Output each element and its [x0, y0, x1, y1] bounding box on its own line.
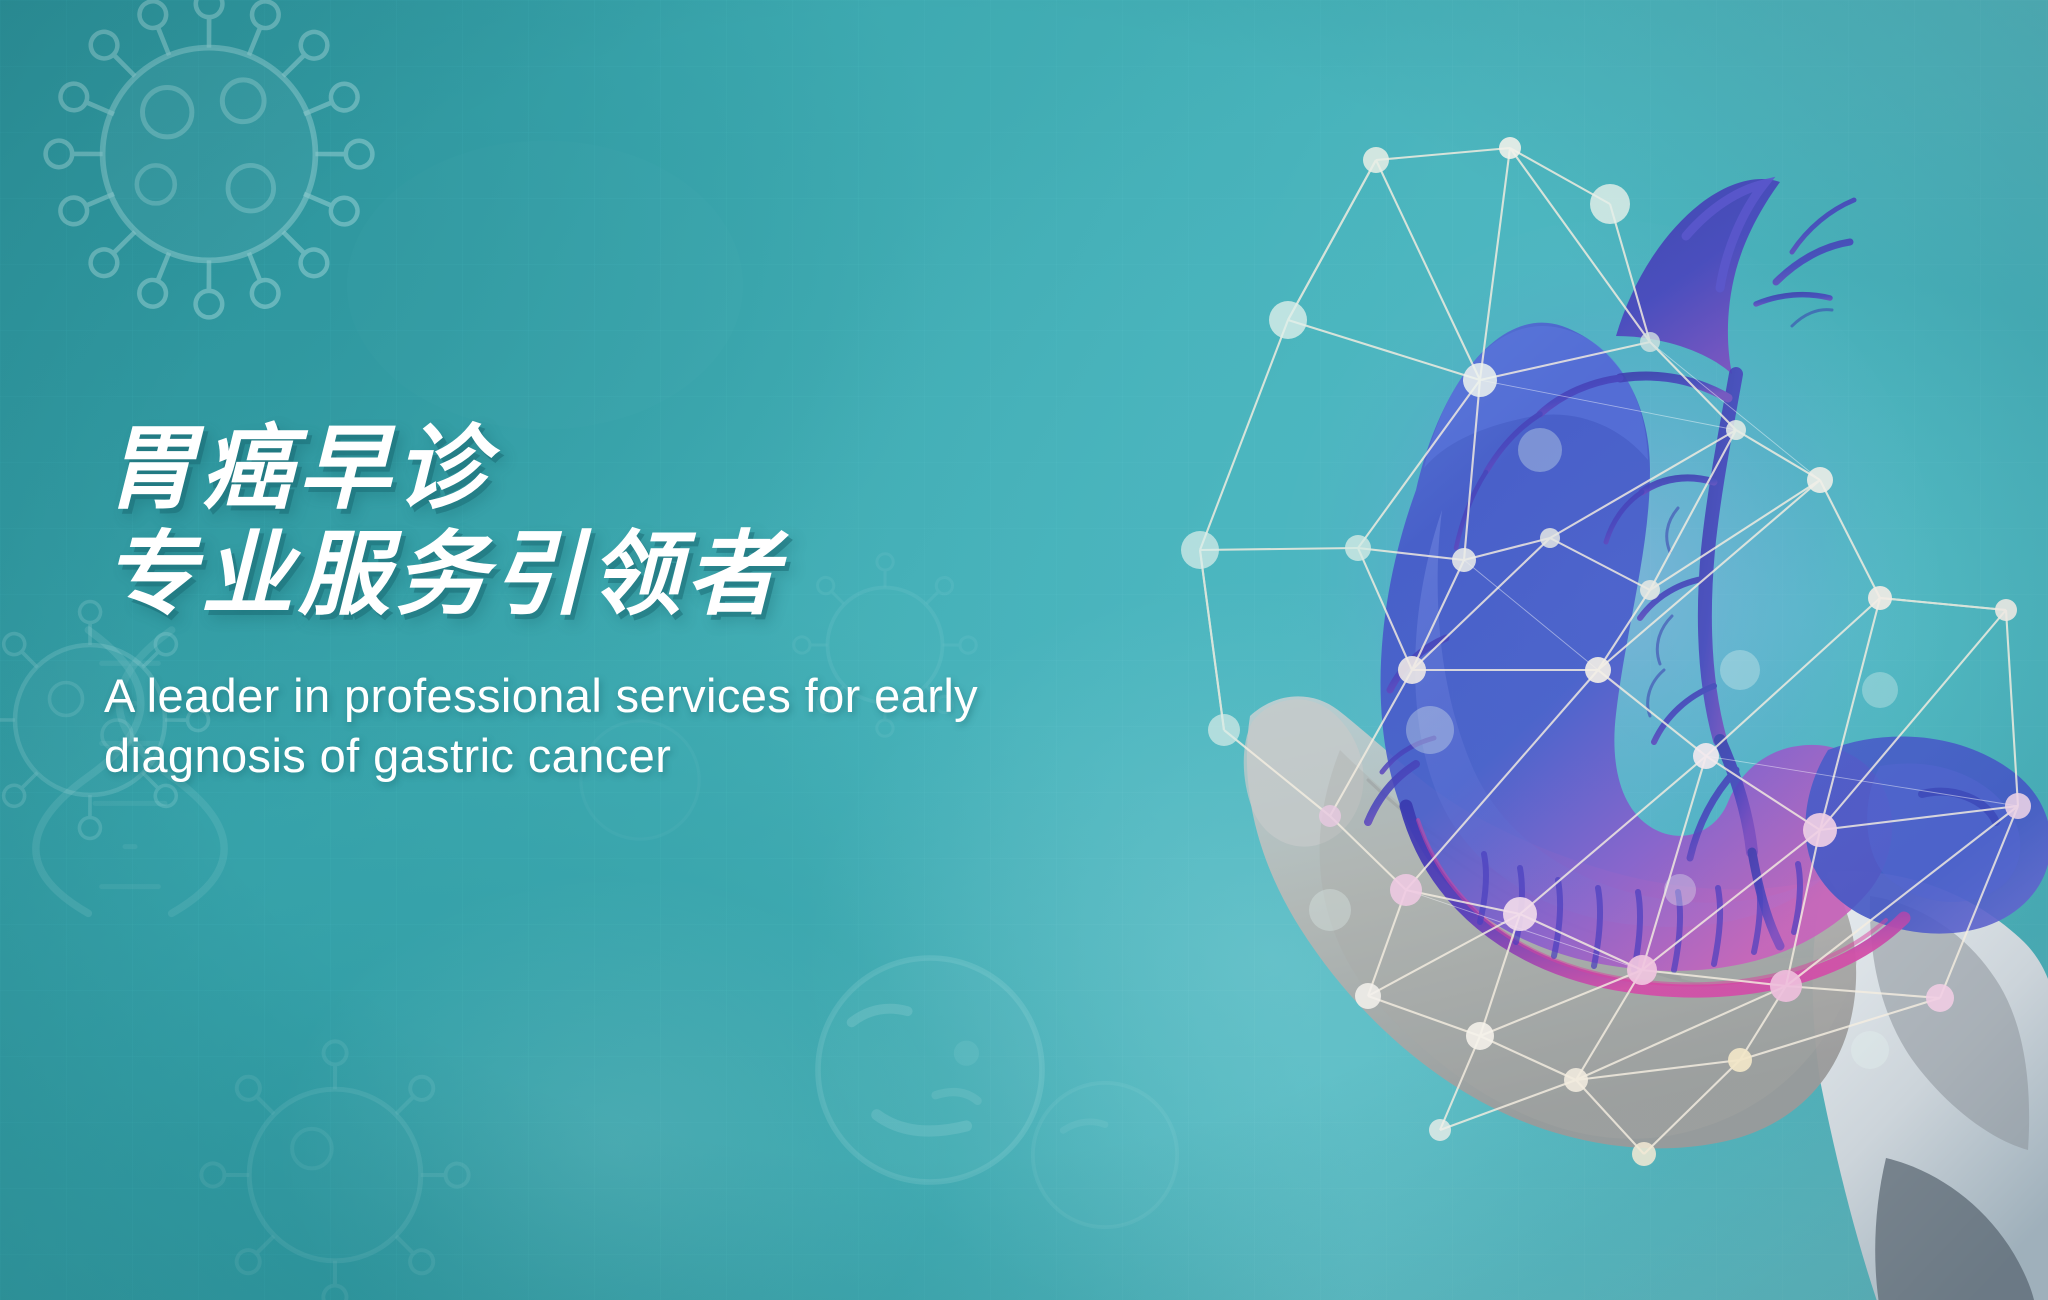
subtitle-line-2: diagnosis of gastric cancer	[104, 726, 1164, 786]
hero-banner: 胃癌早诊 专业服务引领者 A leader in professional se…	[0, 0, 2048, 1300]
subtitle: A leader in professional services for ea…	[104, 666, 1164, 786]
banner-copy: 胃癌早诊 专业服务引领者 A leader in professional se…	[104, 420, 1164, 786]
headline-line-1: 胃癌早诊	[104, 420, 1164, 518]
subtitle-line-1: A leader in professional services for ea…	[104, 666, 1164, 726]
stomach-in-hand-illustration	[1180, 130, 2048, 1300]
headline-line-2: 专业服务引领者	[104, 526, 1164, 624]
